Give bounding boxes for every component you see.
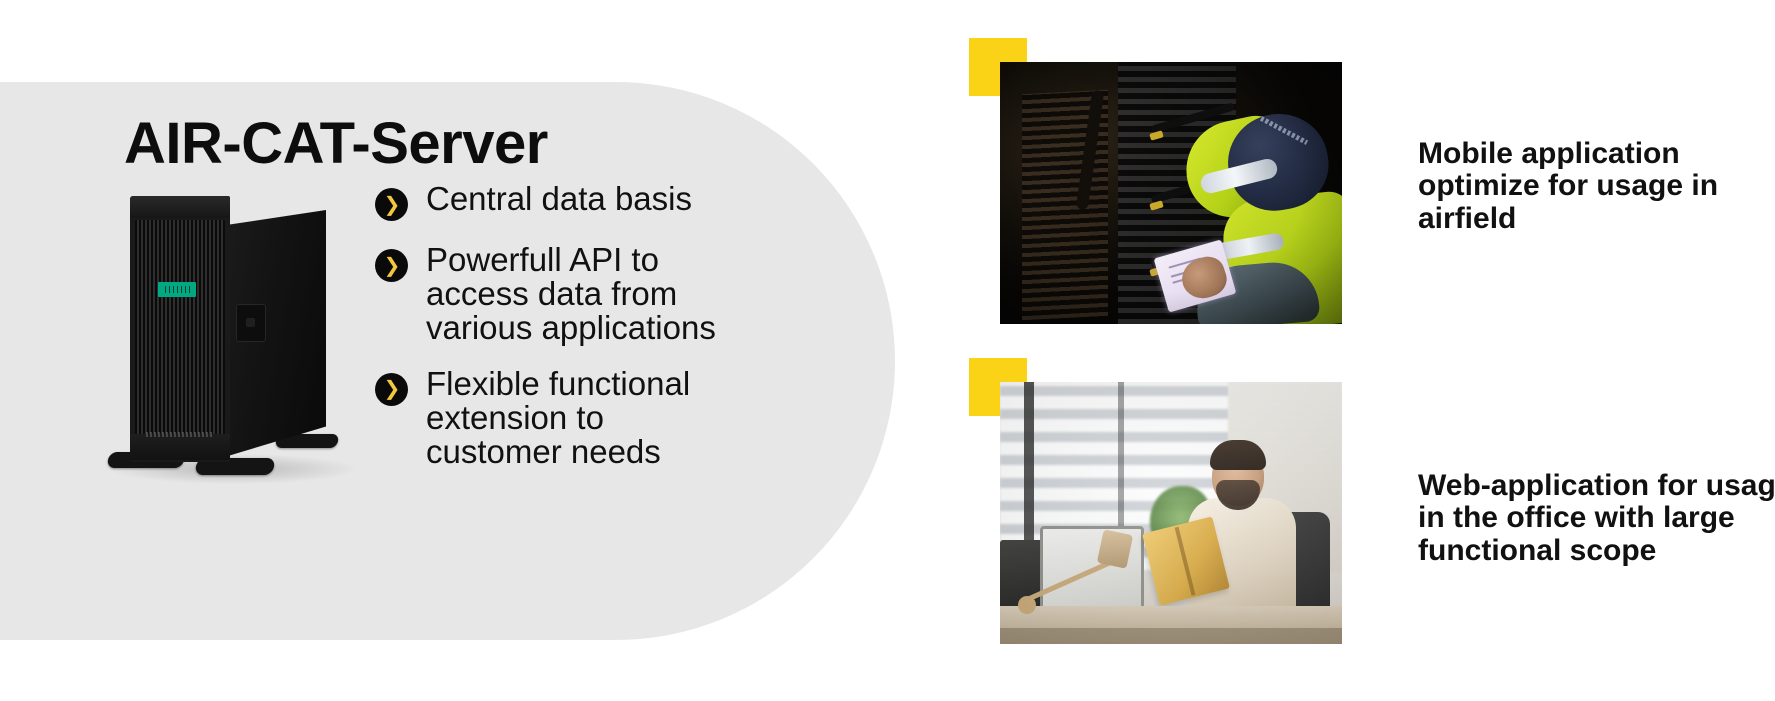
chevron-right-icon: ❯ bbox=[375, 188, 408, 221]
chevron-right-glyph: ❯ bbox=[375, 373, 408, 406]
photo-vignette bbox=[1000, 62, 1342, 324]
office-worker-photo bbox=[1000, 382, 1342, 644]
hpe-proliant-tower-server-image bbox=[108, 196, 358, 506]
airfield-technician-photo bbox=[1000, 62, 1342, 324]
hpe-logo-icon bbox=[158, 282, 196, 297]
chevron-right-icon: ❯ bbox=[375, 373, 408, 406]
list-item: ❯ Central data basis bbox=[375, 182, 745, 221]
server-mesh-grille bbox=[135, 220, 225, 452]
chevron-right-icon: ❯ bbox=[375, 249, 408, 282]
page-title: AIR-CAT-Server bbox=[124, 110, 548, 177]
server-top-bezel bbox=[130, 196, 230, 218]
office-worker-photo-block bbox=[1000, 382, 1342, 644]
bullet-label: Central data basis bbox=[426, 182, 692, 216]
server-brand-text bbox=[146, 432, 212, 437]
bullet-label: Powerfull API to access data from variou… bbox=[426, 243, 745, 345]
chevron-right-glyph: ❯ bbox=[375, 188, 408, 221]
list-item: ❯ Flexible functional extension to custo… bbox=[375, 367, 745, 469]
bullet-label: Flexible functional extension to custome… bbox=[426, 367, 745, 469]
feature-bullet-list: ❯ Central data basis ❯ Powerfull API to … bbox=[375, 182, 745, 491]
server-side-latch-icon bbox=[236, 304, 266, 342]
chevron-right-glyph: ❯ bbox=[375, 249, 408, 282]
server-base-bezel bbox=[130, 434, 230, 460]
list-item: ❯ Powerfull API to access data from vari… bbox=[375, 243, 745, 345]
airfield-technician-photo-block bbox=[1000, 62, 1342, 324]
airfield-photo-caption: Mobile application optimize for usage in… bbox=[1418, 138, 1775, 235]
office-photo-caption: Web-application for usage in the office … bbox=[1418, 470, 1775, 567]
photo-vignette bbox=[1000, 382, 1342, 644]
